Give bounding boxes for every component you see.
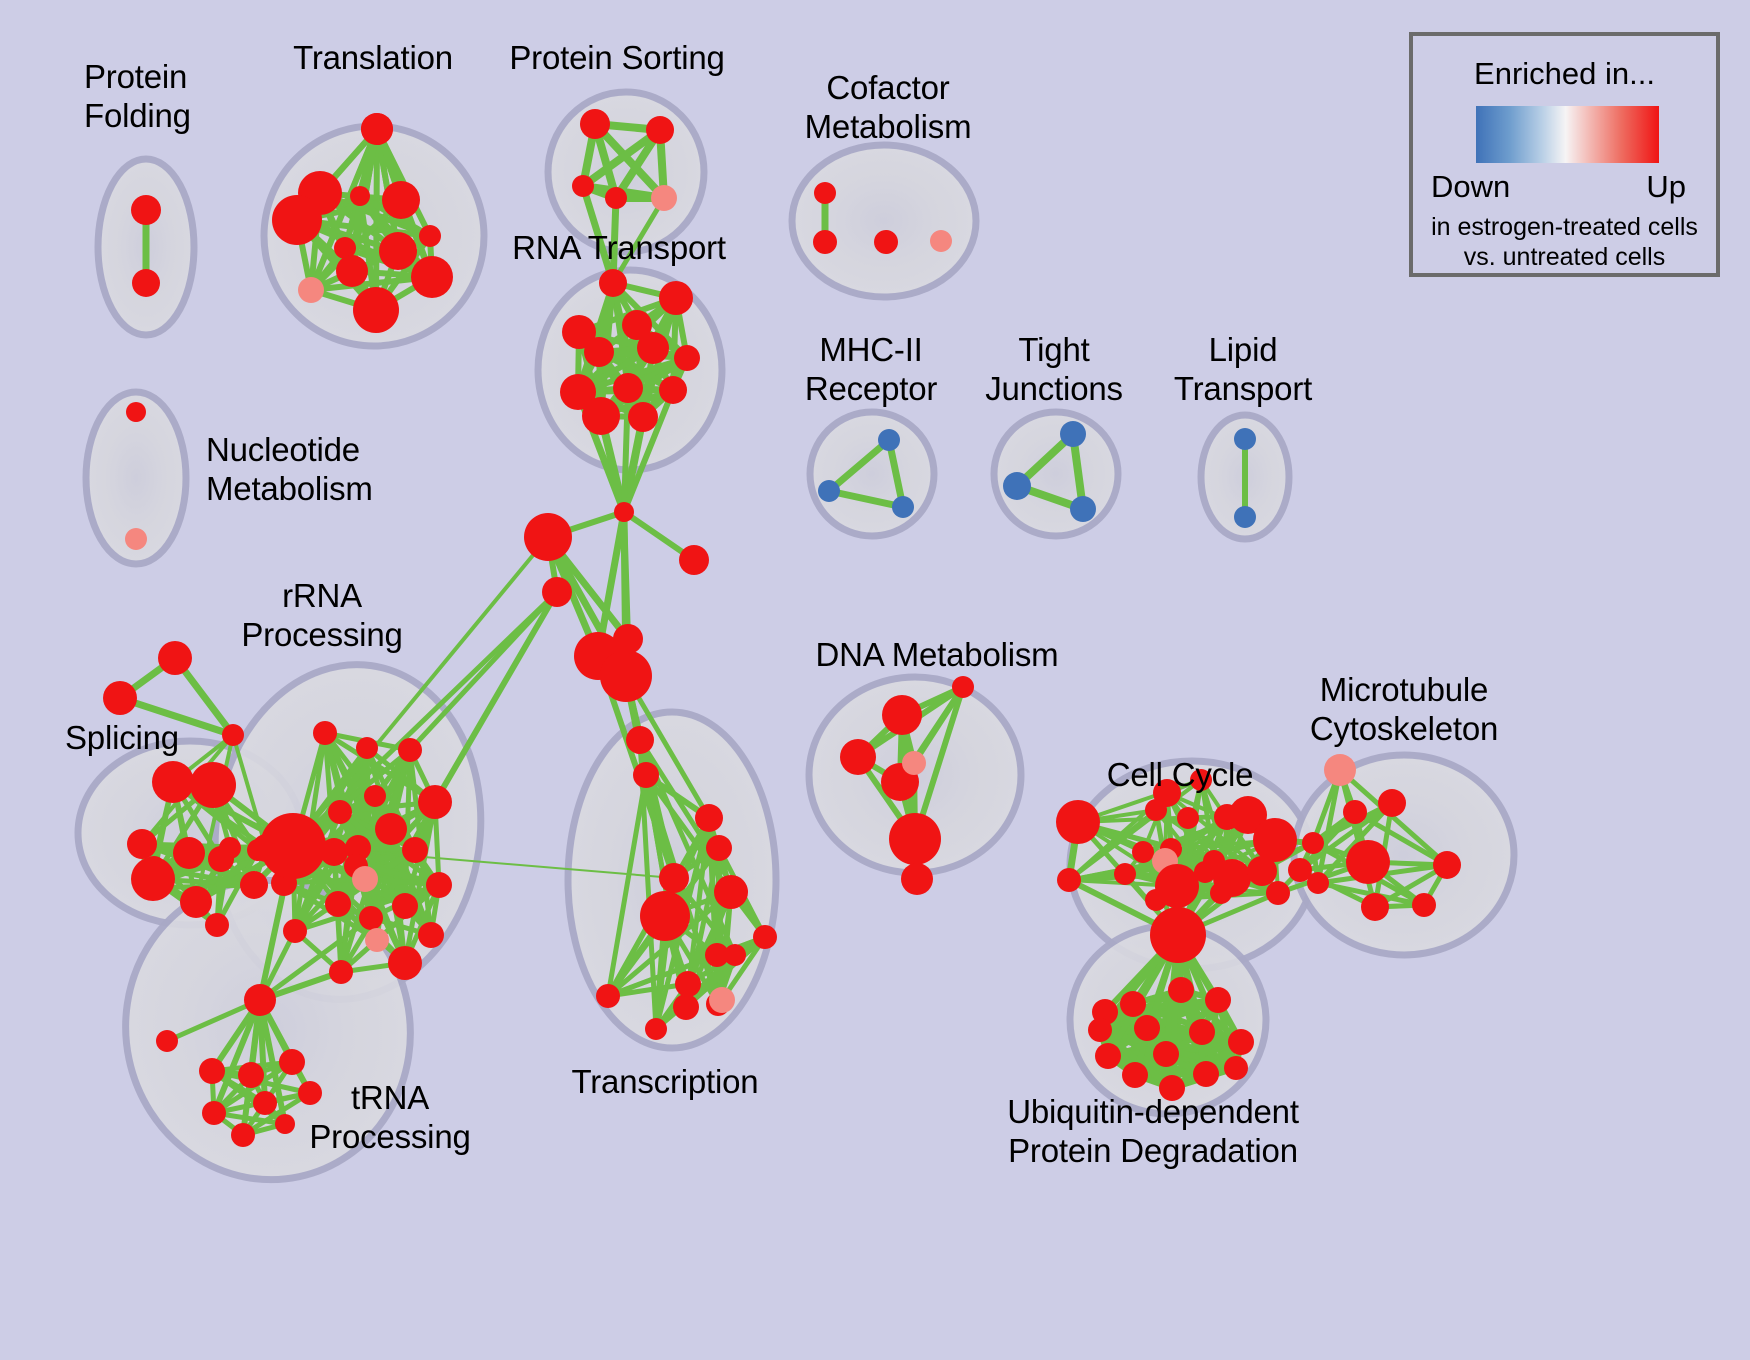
graph-node: [244, 984, 276, 1016]
graph-node: [1189, 1019, 1215, 1045]
graph-node: [388, 946, 422, 980]
cluster-label-ubiquitin-protein-degradation: Ubiquitin-dependent Protein Degradation: [1007, 1092, 1299, 1170]
graph-node: [353, 287, 399, 333]
graph-node: [679, 545, 709, 575]
graph-node: [275, 1114, 295, 1134]
cluster-label-tight-junctions: Tight Junctions: [985, 330, 1123, 408]
graph-node: [600, 650, 652, 702]
graph-node: [1145, 889, 1167, 911]
graph-node: [279, 1049, 305, 1075]
graph-node: [584, 337, 614, 367]
graph-node: [1253, 818, 1297, 862]
graph-node: [131, 195, 161, 225]
cluster-hull-microtubule-cytoskeleton: [1294, 755, 1514, 955]
graph-node: [645, 1018, 667, 1040]
graph-node: [1168, 977, 1194, 1003]
graph-node: [1095, 1043, 1121, 1069]
graph-node: [418, 785, 452, 819]
graph-node: [874, 230, 898, 254]
cluster-label-cofactor-metabolism: Cofactor Metabolism: [805, 68, 972, 146]
graph-edge: [624, 388, 628, 512]
legend-colorbar: [1476, 106, 1659, 163]
cluster-label-rrna-processing: rRNA Processing: [241, 576, 402, 654]
graph-node: [364, 785, 386, 807]
graph-node: [313, 721, 337, 745]
graph-node: [1145, 799, 1167, 821]
graph-node: [659, 863, 689, 893]
graph-node: [260, 813, 326, 879]
graph-node: [596, 984, 620, 1008]
graph-node: [599, 269, 627, 297]
graph-node: [205, 913, 229, 937]
graph-node: [1134, 1015, 1160, 1041]
graph-node: [272, 195, 322, 245]
graph-node: [640, 891, 690, 941]
graph-node: [695, 804, 723, 832]
graph-node: [659, 376, 687, 404]
graph-node: [889, 813, 941, 865]
graph-node: [379, 232, 417, 270]
graph-node: [132, 269, 160, 297]
graph-node: [361, 113, 393, 145]
graph-node: [675, 971, 701, 997]
graph-node: [158, 641, 192, 675]
graph-node: [901, 863, 933, 895]
graph-node: [1234, 428, 1256, 450]
cluster-label-cell-cycle: Cell Cycle: [1107, 755, 1254, 794]
graph-node: [818, 480, 840, 502]
graph-node: [208, 846, 234, 872]
graph-node: [1205, 987, 1231, 1013]
graph-node: [673, 994, 699, 1020]
graph-node: [1057, 868, 1081, 892]
graph-node: [1433, 851, 1461, 879]
graph-node: [628, 402, 658, 432]
graph-node: [253, 1091, 277, 1115]
graph-node: [952, 676, 974, 698]
graph-node: [1224, 1056, 1248, 1080]
graph-node: [637, 332, 669, 364]
graph-node: [892, 496, 914, 518]
graph-node: [298, 277, 324, 303]
graph-node: [582, 397, 620, 435]
graph-node: [1210, 882, 1232, 904]
graph-node: [359, 906, 383, 930]
graph-node: [131, 857, 175, 901]
graph-node: [580, 109, 610, 139]
graph-node: [173, 837, 205, 869]
cluster-label-microtubule-cytoskeleton: Microtubule Cytoskeleton: [1310, 670, 1498, 748]
graph-node: [365, 928, 389, 952]
graph-node: [1234, 506, 1256, 528]
graph-node: [1266, 881, 1290, 905]
legend-up-label: Up: [1646, 169, 1686, 205]
graph-node: [328, 800, 352, 824]
cluster-label-splicing: Splicing: [65, 718, 179, 757]
graph-node: [1193, 1061, 1219, 1087]
graph-node: [1346, 840, 1390, 884]
graph-node: [646, 116, 674, 144]
graph-node: [426, 872, 452, 898]
cluster-label-mhc-ii-receptor: MHC-II Receptor: [805, 330, 937, 408]
graph-node: [724, 944, 746, 966]
graph-node: [753, 925, 777, 949]
graph-node: [814, 182, 836, 204]
graph-node: [1228, 1029, 1254, 1055]
graph-node: [902, 751, 926, 775]
graph-node: [402, 837, 428, 863]
graph-node: [1150, 907, 1206, 963]
graph-node: [1114, 863, 1136, 885]
graph-node: [356, 737, 378, 759]
cluster-hull-mhc-ii-receptor: [810, 412, 934, 536]
graph-node: [231, 1123, 255, 1147]
graph-node: [651, 185, 677, 211]
graph-node: [350, 186, 370, 206]
graph-node: [709, 987, 735, 1013]
graph-node: [240, 871, 268, 899]
graph-node: [613, 373, 643, 403]
graph-node: [419, 225, 441, 247]
graph-node: [202, 1101, 226, 1125]
graph-node: [1412, 893, 1436, 917]
graph-node: [103, 681, 137, 715]
graph-node: [1070, 496, 1096, 522]
graph-node: [1132, 841, 1154, 863]
cluster-label-protein-sorting: Protein Sorting: [509, 38, 724, 77]
graph-node: [156, 1030, 178, 1052]
graph-node: [126, 402, 146, 422]
cluster-label-protein-folding: Protein Folding: [84, 57, 191, 135]
graph-node: [674, 345, 700, 371]
graph-node: [614, 502, 634, 522]
graph-node: [325, 891, 351, 917]
graph-node: [714, 875, 748, 909]
graph-node: [1378, 789, 1406, 817]
graph-node: [152, 761, 194, 803]
graph-node: [542, 577, 572, 607]
graph-node: [392, 893, 418, 919]
graph-node: [222, 724, 244, 746]
graph-node: [336, 255, 368, 287]
legend-title: Enriched in...: [1413, 56, 1716, 92]
graph-node: [1088, 1018, 1112, 1042]
cluster-label-lipid-transport: Lipid Transport: [1174, 330, 1312, 408]
graph-node: [180, 886, 212, 918]
graph-node: [633, 762, 659, 788]
graph-node: [1361, 893, 1389, 921]
graph-node: [1060, 421, 1086, 447]
legend-subtitle: in estrogen-treated cells vs. untreated …: [1413, 212, 1716, 272]
graph-node: [1302, 832, 1324, 854]
graph-node: [840, 739, 876, 775]
graph-node: [329, 960, 353, 984]
graph-node: [411, 256, 453, 298]
graph-node: [125, 528, 147, 550]
graph-node: [1343, 800, 1367, 824]
graph-node: [199, 1058, 225, 1084]
graph-node: [1153, 1041, 1179, 1067]
graph-node: [1056, 800, 1100, 844]
cluster-label-translation: Translation: [293, 38, 453, 77]
graph-node: [1177, 807, 1199, 829]
graph-node: [1324, 754, 1356, 786]
legend-panel: Enriched in... Down Up in estrogen-treat…: [1409, 32, 1720, 277]
graph-node: [659, 281, 693, 315]
cluster-hull-cofactor-metabolism: [792, 145, 976, 297]
graph-node: [1214, 804, 1240, 830]
graph-node: [1003, 472, 1031, 500]
graph-node: [524, 513, 572, 561]
graph-node: [882, 695, 922, 735]
cluster-label-transcription: Transcription: [572, 1062, 759, 1101]
graph-node: [238, 1062, 264, 1088]
graph-node: [127, 829, 157, 859]
graph-node: [190, 762, 236, 808]
graph-node: [878, 429, 900, 451]
cluster-label-dna-metabolism: DNA Metabolism: [816, 635, 1059, 674]
graph-node: [1247, 856, 1277, 886]
graph-node: [382, 181, 420, 219]
cluster-label-nucleotide-metabolism: Nucleotide Metabolism: [206, 430, 373, 508]
graph-node: [626, 726, 654, 754]
graph-node: [375, 813, 407, 845]
graph-node: [572, 175, 594, 197]
graph-edge: [435, 592, 557, 802]
graph-node: [813, 230, 837, 254]
graph-node: [352, 866, 378, 892]
graph-node: [1122, 1062, 1148, 1088]
graph-node: [1120, 991, 1146, 1017]
graph-node: [283, 919, 307, 943]
graph-node: [398, 738, 422, 762]
network-figure: Protein FoldingTranslationProtein Sortin…: [0, 0, 1750, 1360]
graph-node: [930, 230, 952, 252]
legend-down-label: Down: [1431, 169, 1510, 205]
cluster-label-trna-processing: tRNA Processing: [309, 1078, 470, 1156]
graph-node: [706, 835, 732, 861]
graph-node: [1288, 858, 1312, 882]
graph-node: [605, 187, 627, 209]
graph-node: [418, 922, 444, 948]
cluster-label-rna-transport: RNA Transport: [512, 228, 726, 267]
